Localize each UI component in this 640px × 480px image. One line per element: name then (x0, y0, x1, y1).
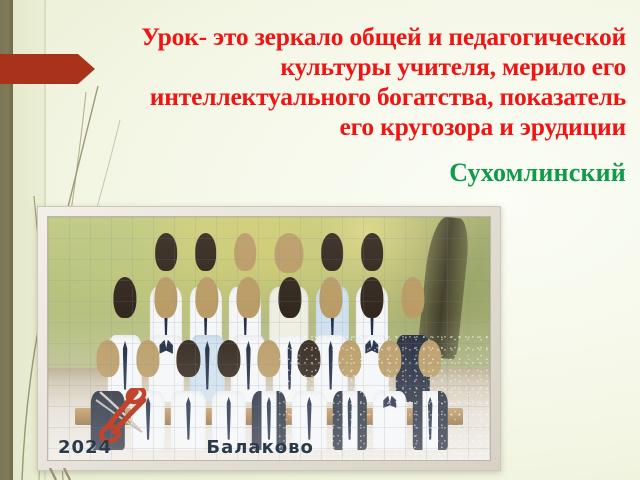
frame-clip-marks-icon (44, 468, 104, 480)
figure-hair (196, 277, 219, 318)
figure-hair (155, 233, 177, 271)
figure-hair (274, 233, 303, 273)
person-figure (250, 343, 287, 450)
figure-hair (137, 340, 160, 376)
figure-hair (319, 277, 342, 318)
figure-hair (96, 340, 119, 376)
quote-line-2: культуры учителя, мерило его (48, 52, 626, 82)
person-figure (331, 343, 368, 450)
figure-hair (195, 233, 217, 271)
person-figure (291, 343, 328, 450)
figure-hair (322, 233, 344, 271)
slide-canvas: Урок- это зеркало общей и педагогической… (0, 0, 640, 480)
figure-hair (360, 277, 383, 318)
figure-hair (177, 340, 200, 376)
figure-hair (419, 340, 442, 376)
figure-hair (155, 277, 178, 318)
quote-line-4: его кругозора и эрудиции (48, 112, 626, 142)
person-figure (371, 343, 408, 450)
photo-caption-city: Балаково (206, 437, 314, 458)
figure-hair (113, 277, 136, 318)
quote-attribution: Сухомлинский (48, 158, 626, 188)
figure-hair (217, 340, 240, 376)
class-photo-frame: 2024 Балаково (37, 206, 501, 471)
quote-block: Урок- это зеркало общей и педагогической… (48, 22, 626, 188)
figure-torso (373, 391, 407, 450)
figure-hair (298, 340, 321, 376)
figure-hair (257, 340, 280, 376)
figure-hair (278, 277, 301, 318)
figure-hair (378, 340, 401, 376)
person-figure (210, 343, 247, 450)
figure-hair (361, 233, 383, 271)
figure-hair (338, 340, 361, 376)
figure-hair (237, 277, 260, 318)
class-photo: 2024 Балаково (47, 216, 491, 461)
figure-hair (401, 277, 424, 318)
quote-line-1: Урок- это зеркало общей и педагогической (48, 22, 626, 52)
person-figure (170, 343, 207, 450)
quote-line-3: интеллектуального богатства, показатель (48, 82, 626, 112)
photo-caption-year: 2024 (58, 437, 112, 458)
person-figure (411, 343, 448, 450)
figure-hair (234, 233, 256, 271)
